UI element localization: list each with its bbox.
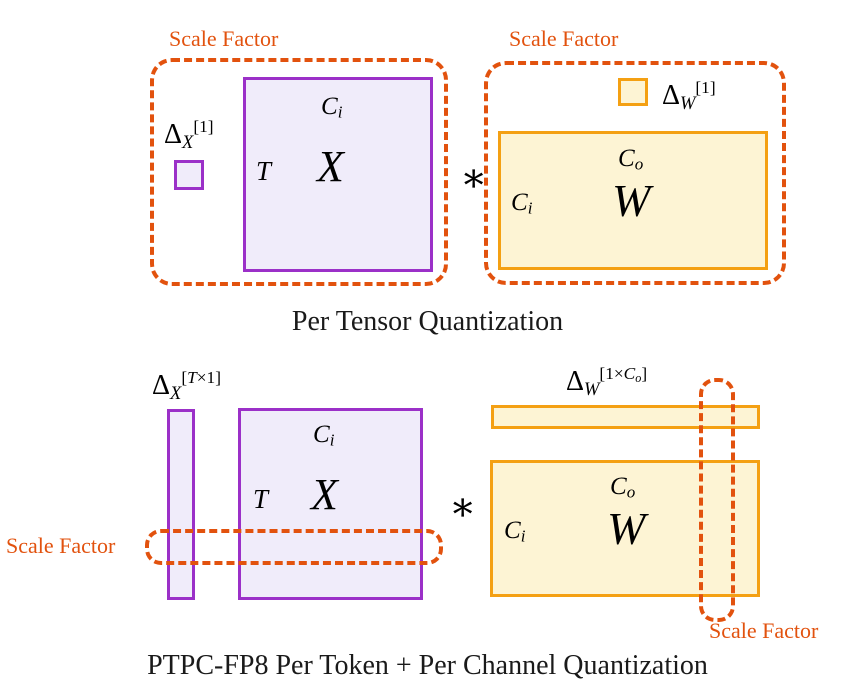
bottom-multiply-operator: ∗ [449,487,476,527]
top-weight-name: W [612,178,650,224]
col-dim-letter: C [618,145,635,172]
top-weight-row-dim-label: Ci [511,190,532,217]
bottom-activation-name: X [311,473,338,517]
delta-subscript: X [182,132,193,152]
bottom-per-token-scale-outline [145,529,443,565]
bottom-weight-col-dim-label: Co [610,474,635,501]
delta-glyph: Δ [164,119,182,150]
top-panel-caption: Per Tensor Quantization [0,308,855,336]
figure-canvas: Scale Factor ΔX[1] Ci T X ∗ Scale Factor… [0,0,855,693]
col-dim-letter: C [610,473,627,500]
delta-glyph: Δ [566,366,584,397]
top-activation-col-dim-label: Ci [321,94,342,121]
col-dim-sub: i [330,431,335,450]
top-multiply-operator: ∗ [460,158,487,198]
delta-superscript: [1×Co] [599,364,647,383]
top-activation-scale-symbol: ΔX[1] [164,118,214,151]
top-weight-col-dim-label: Co [618,146,643,173]
bottom-left-scale-factor-label: Scale Factor [6,535,115,557]
sup-cols: 1 [207,368,216,387]
top-left-scale-factor-outline [150,58,448,286]
col-dim-sub: o [635,155,644,174]
bottom-weight-name: W [607,506,645,552]
row-dim-letter: C [511,189,528,216]
delta-subscript: X [170,383,181,403]
delta-superscript: [T×1] [181,368,221,387]
row-dim-sub: i [528,199,533,218]
delta-superscript: [1] [193,117,213,136]
delta-glyph: Δ [662,80,680,111]
delta-superscript: [1] [695,78,715,97]
bottom-activation-row-dim-label: T [253,486,268,513]
bottom-activation-col-dim-label: Ci [313,422,334,449]
bottom-weight-row-dim-label: Ci [504,518,525,545]
sup-times: × [614,364,624,383]
col-dim-sub: i [338,103,343,122]
sup-cols: Co [624,364,642,383]
bottom-panel-caption: PTPC-FP8 Per Token + Per Channel Quantiz… [0,652,855,680]
sup-close: ] [215,368,221,387]
col-dim-letter: C [313,421,330,448]
top-weight-scale-symbol: ΔW[1] [662,79,716,112]
bottom-right-scale-factor-label: Scale Factor [709,620,818,642]
bottom-activation-scale-vector [167,409,195,600]
bottom-weight-scale-symbol: ΔW[1×Co] [566,365,647,398]
top-right-scale-factor-label: Scale Factor [509,28,618,50]
sup-close: ] [641,364,647,383]
delta-subscript: W [584,379,599,399]
top-left-scale-factor-label: Scale Factor [169,28,278,50]
col-dim-sub: o [627,483,636,502]
col-dim-letter: C [321,93,338,120]
top-activation-name: X [317,145,344,189]
sup-rows: 1 [605,364,614,383]
sup-times: × [197,368,207,387]
row-dim-letter: C [504,517,521,544]
delta-subscript: W [680,93,695,113]
bottom-activation-scale-symbol: ΔX[T×1] [152,369,221,402]
sup-cols-letter: C [624,364,636,383]
bottom-per-channel-scale-outline [699,378,735,622]
delta-glyph: Δ [152,370,170,401]
row-dim-sub: i [521,527,526,546]
top-activation-row-dim-label: T [256,158,271,185]
sup-rows: T [187,368,197,387]
